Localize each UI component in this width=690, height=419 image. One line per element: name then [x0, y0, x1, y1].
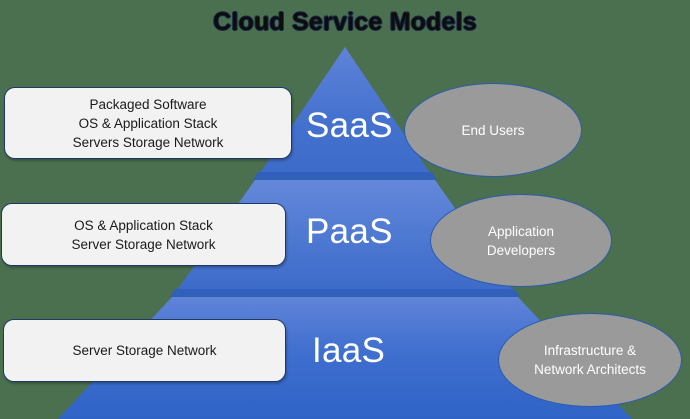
tier-label-iaas: IaaS — [312, 331, 385, 371]
cloud-service-models-diagram: Cloud Service Models SaaS PaaS IaaS Pack… — [0, 0, 690, 419]
stack-box-saas: Packaged Software OS & Application Stack… — [4, 87, 292, 159]
persona-line: Network Architects — [534, 360, 646, 379]
persona-line: End Users — [461, 121, 524, 140]
persona-ellipse-saas: End Users — [404, 83, 582, 177]
persona-line: Application — [488, 222, 554, 241]
persona-ellipse-iaas: Infrastructure & Network Architects — [498, 313, 682, 407]
stack-line: Servers Storage Network — [73, 133, 224, 152]
persona-line: Developers — [487, 241, 555, 260]
persona-ellipse-paas: Application Developers — [430, 194, 612, 287]
stack-line: Server Storage Network — [71, 235, 215, 254]
pyramid-separator-top — [253, 172, 437, 180]
stack-line: OS & Application Stack — [74, 216, 213, 235]
tier-label-paas: PaaS — [306, 212, 393, 252]
stack-line: Packaged Software — [89, 95, 206, 114]
pyramid-separator-bottom — [170, 289, 520, 297]
stack-box-paas: OS & Application Stack Server Storage Ne… — [1, 203, 286, 266]
stack-box-iaas: Server Storage Network — [3, 319, 286, 382]
persona-line: Infrastructure & — [544, 341, 636, 360]
page-title: Cloud Service Models — [0, 8, 690, 37]
stack-line: Server Storage Network — [72, 341, 216, 360]
tier-label-saas: SaaS — [306, 106, 393, 146]
stack-line: OS & Application Stack — [79, 114, 218, 133]
